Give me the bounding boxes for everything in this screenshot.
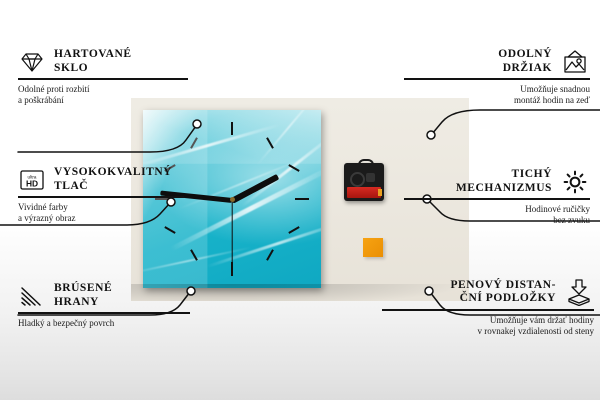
feature-header: PENOVÝ DISTAN- ČNÍ PODLOŽKY <box>382 278 594 306</box>
divider <box>18 196 184 198</box>
feature-polished-edges[interactable]: BRÚSENÉ HRANY Hladký a bezpečný povrch <box>18 282 190 329</box>
divider <box>404 198 590 200</box>
feature-header: ODOLNÝ DRŽIAK <box>404 48 590 75</box>
ultra-hd-icon: ultra HD <box>18 168 46 192</box>
feature-title: ODOLNÝ DRŽIAK <box>498 48 552 75</box>
gear-icon <box>560 169 590 195</box>
feature-header: ultra HD VYSOKOKVALITNÝ TLAČ <box>18 166 184 193</box>
picture-hanger-icon <box>560 49 590 75</box>
feature-title: VYSOKOKVALITNÝ TLAČ <box>54 166 172 193</box>
feature-title: BRÚSENÉ HRANY <box>54 282 112 309</box>
connector-dot-durable-holder <box>427 131 435 139</box>
connector-dot-tempered-glass <box>193 120 201 128</box>
divider <box>18 78 188 80</box>
wire-durable-holder <box>432 110 600 134</box>
feature-title: TICHÝ MECHANIZMUS <box>456 168 552 195</box>
feature-header: HARTOVANÉ SKLO <box>18 48 188 75</box>
feature-header: TICHÝ MECHANIZMUS <box>404 168 590 195</box>
feature-tempered-glass[interactable]: HARTOVANÉ SKLO Odolné proti rozbití a po… <box>18 48 188 107</box>
feature-durable-holder[interactable]: ODOLNÝ DRŽIAK Umožňuje snadnou montáž ho… <box>404 48 590 107</box>
feature-title: PENOVÝ DISTAN- ČNÍ PODLOŽKY <box>450 279 556 306</box>
divider <box>18 312 190 314</box>
feature-header: BRÚSENÉ HRANY <box>18 282 190 309</box>
feature-silent-mechanism[interactable]: TICHÝ MECHANIZMUS Hodinové ručičky bez z… <box>404 168 590 227</box>
feature-high-quality-print[interactable]: ultra HD VYSOKOKVALITNÝ TLAČ Vividné far… <box>18 166 184 225</box>
beveled-edge-icon <box>18 284 46 308</box>
infographic-canvas: HARTOVANÉ SKLO Odolné proti rozbití a po… <box>0 0 600 400</box>
wire-tempered-glass <box>18 126 196 152</box>
diamond-icon <box>18 50 46 74</box>
svg-text:HD: HD <box>26 178 38 188</box>
divider <box>382 309 594 311</box>
feature-title: HARTOVANÉ SKLO <box>54 48 132 75</box>
divider <box>404 78 590 80</box>
feature-foam-spacers[interactable]: PENOVÝ DISTAN- ČNÍ PODLOŽKY Umožňuje vám… <box>382 278 594 338</box>
foam-pad-icon <box>564 278 594 306</box>
